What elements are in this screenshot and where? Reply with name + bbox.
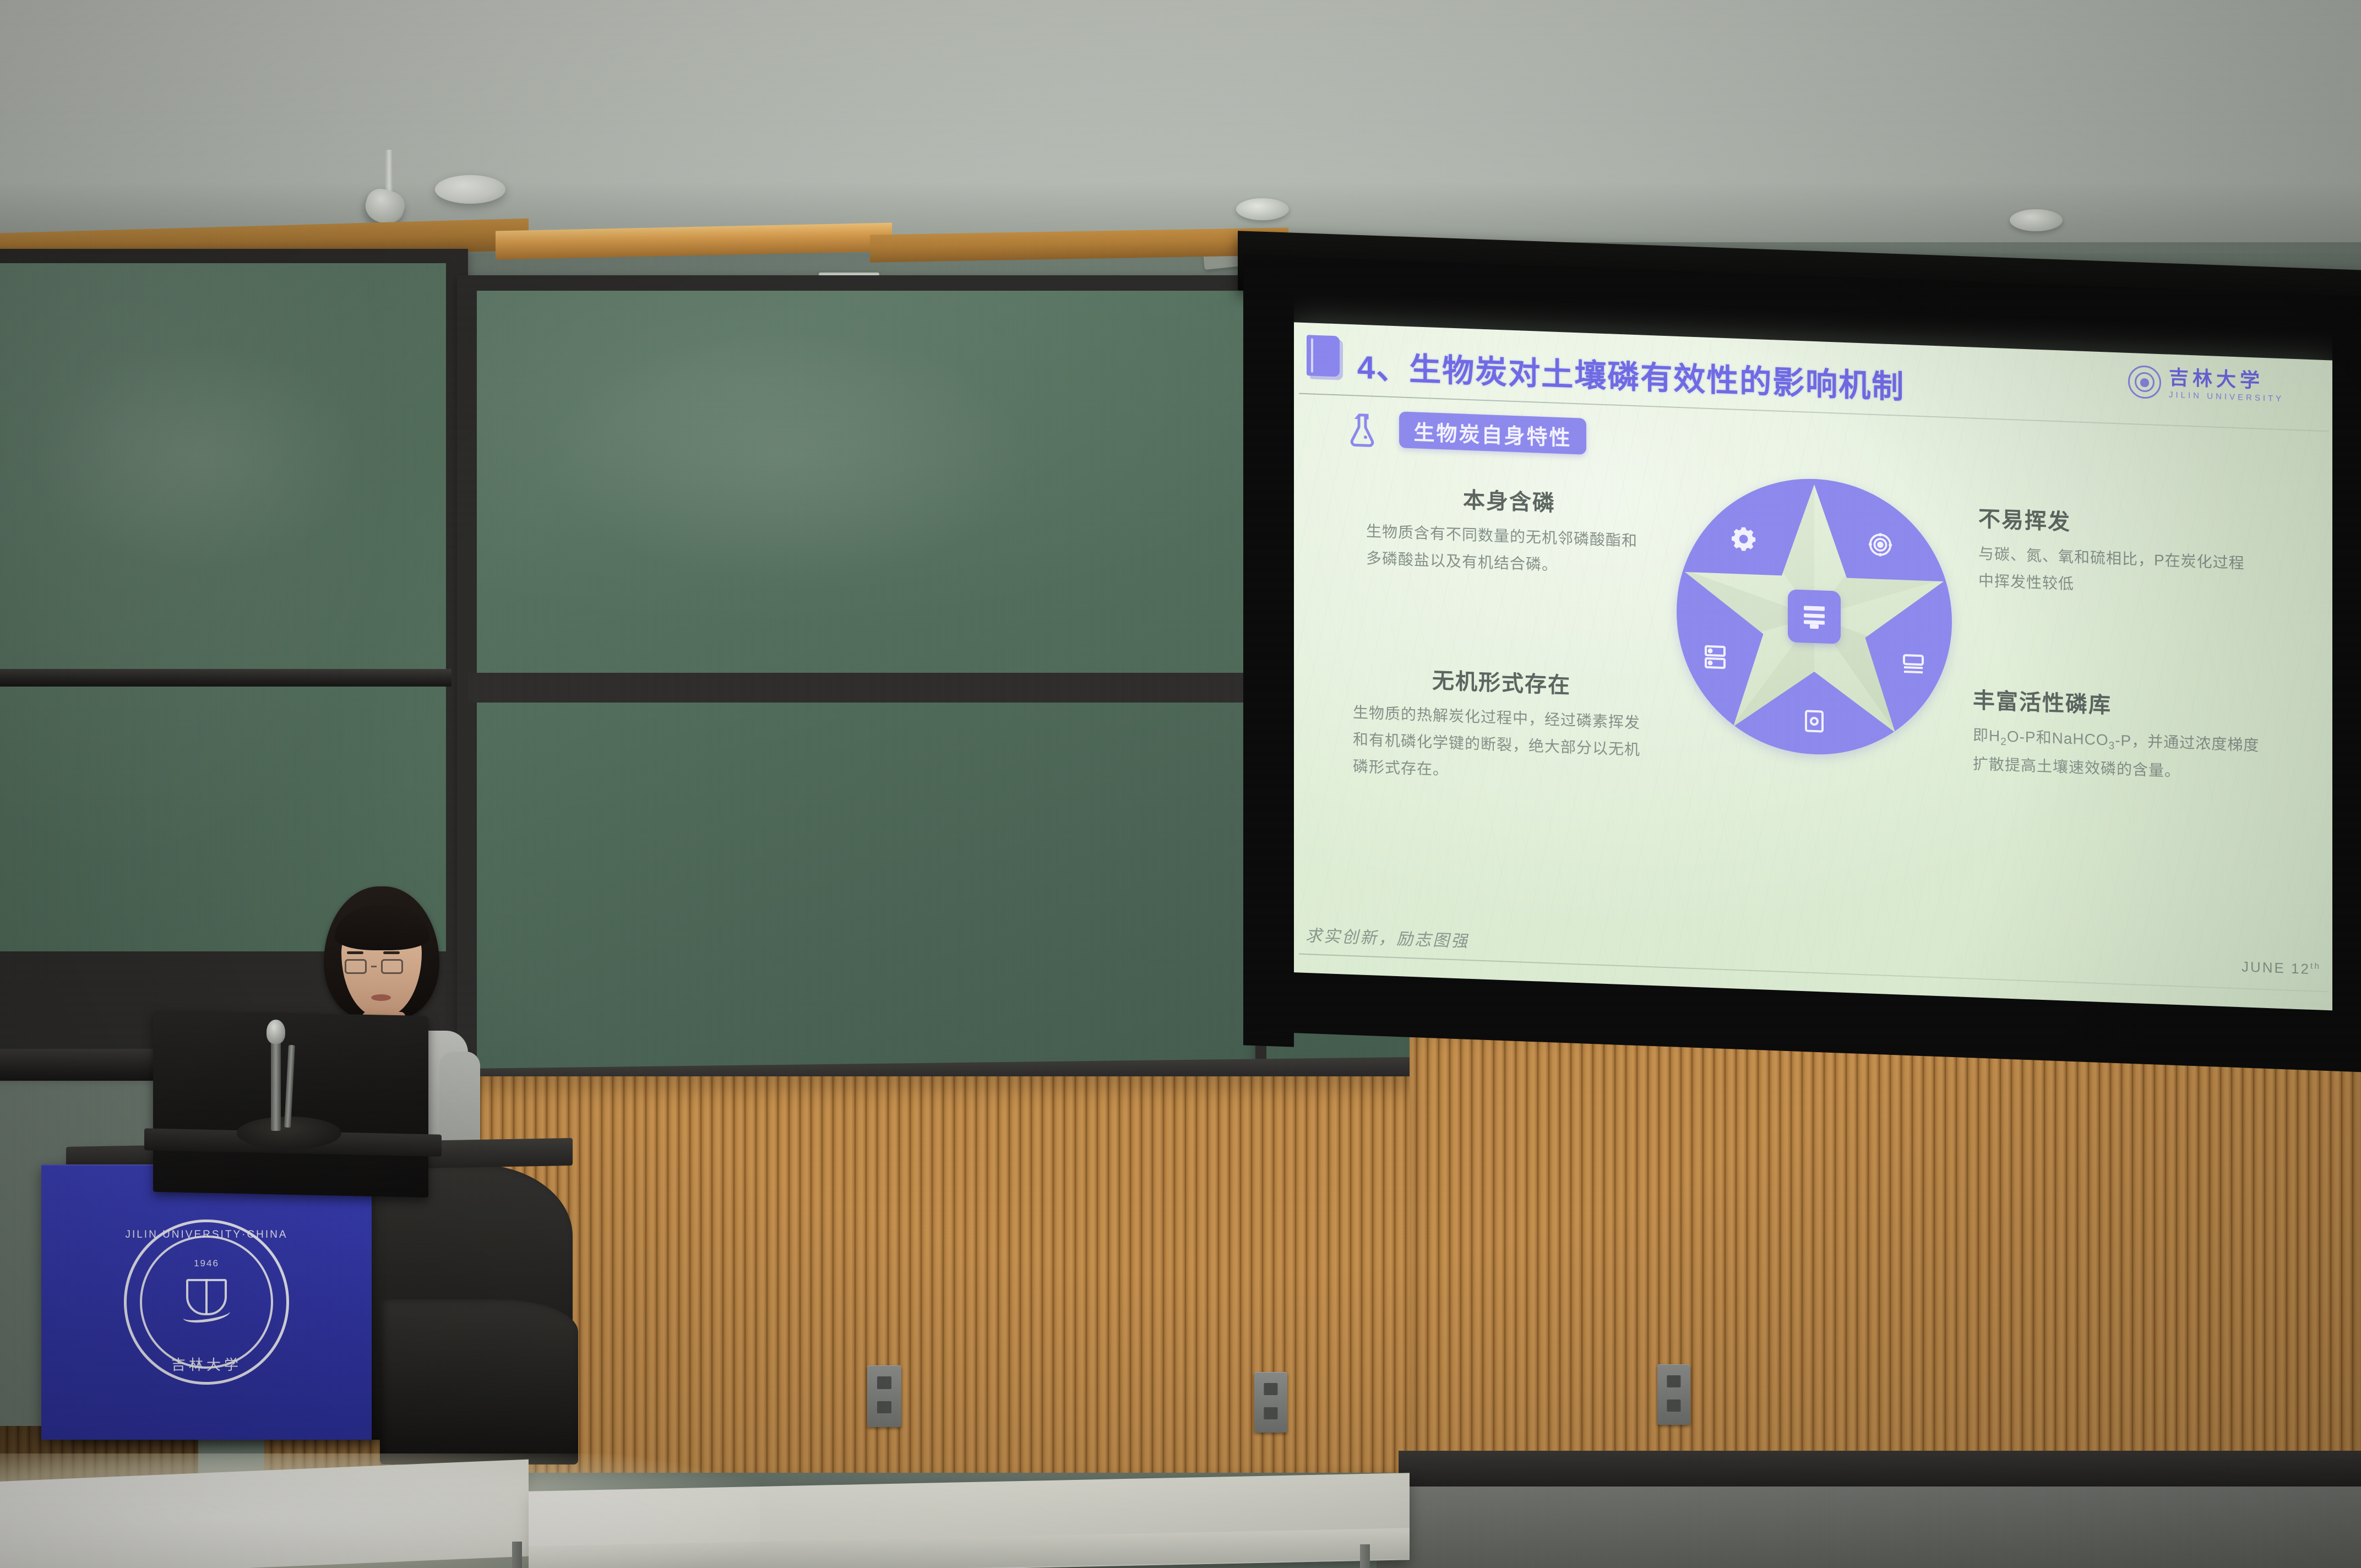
chalkboard-surface-left xyxy=(0,263,446,951)
power-outlet[interactable] xyxy=(1657,1364,1690,1425)
glasses-lens-left xyxy=(345,959,367,974)
seal-bird-icon xyxy=(182,1304,231,1325)
slide-footer-right: JUNE 12th xyxy=(2242,958,2321,978)
footer-date-sup: th xyxy=(2310,961,2321,971)
section-badge-label: 生物炭自身特性 xyxy=(1413,415,1571,451)
document-icon xyxy=(1803,709,1825,733)
target-icon xyxy=(1868,532,1893,558)
seal-shield-icon xyxy=(186,1279,227,1315)
smoke-detector-icon xyxy=(1236,198,1289,220)
glasses-icon xyxy=(345,959,403,974)
jilin-university-logo: 吉林大学 JILIN UNIVERSITY xyxy=(2128,365,2284,404)
university-seal-icon xyxy=(2128,365,2161,399)
database-icon xyxy=(1901,652,1925,677)
microphone-head-icon xyxy=(266,1020,285,1044)
slide-footer-left: 求实创新，励志图强 xyxy=(1305,922,1469,952)
microphone-stand xyxy=(271,1034,281,1131)
presenter-brow-left xyxy=(347,951,363,954)
text-block-top-left: 本身含磷 生物质含有不同数量的无机邻磷酸酯和多磷酸盐以及有机结合磷。 xyxy=(1366,484,1652,582)
document-stack-icon xyxy=(1788,589,1841,644)
presenter-mouth xyxy=(371,994,391,1001)
slide-title: 4、生物炭对土壤磷有效性的影响机制 xyxy=(1357,341,1905,407)
block-body: 与碳、氮、氧和硫相比，P在炭化过程中挥发性较低 xyxy=(1978,540,2259,605)
text-block-bottom-left: 无机形式存在 生物质的热解炭化过程中，经过磷素挥发和有机磷化学键的断裂，绝大部分… xyxy=(1353,666,1650,791)
university-seal: JILIN UNIVERSITY·CHINA 1946 吉林大学 xyxy=(124,1219,289,1385)
table-leg xyxy=(512,1542,522,1568)
block-heading: 无机形式存在 xyxy=(1353,666,1650,701)
block-heading: 丰富活性磷库 xyxy=(1973,689,2270,724)
seal-text-top: JILIN UNIVERSITY·CHINA xyxy=(125,1229,287,1241)
server-icon xyxy=(1704,644,1727,671)
block-heading: 不易挥发 xyxy=(1978,507,2259,542)
presenter-brow-right xyxy=(383,951,400,954)
wood-slat-wall-main xyxy=(451,1076,1470,1473)
gears-icon xyxy=(1731,524,1760,555)
block-heading: 本身含磷 xyxy=(1366,484,1652,519)
seal-text-bottom: 吉林大学 xyxy=(171,1354,242,1374)
flask-icon xyxy=(1348,412,1377,448)
projected-slide: 4、生物炭对土壤磷有效性的影响机制 吉林大学 JILIN UNIVERSITY … xyxy=(1291,322,2337,1016)
power-outlet[interactable] xyxy=(867,1365,901,1427)
text-block-bottom-right: 丰富活性磷库 即H2O-P和NaHCO3-P，并通过浓度梯度扩散提高土壤速效磷的… xyxy=(1973,689,2270,788)
floor-carpet xyxy=(1377,1487,2361,1568)
book-icon xyxy=(1307,335,1340,377)
slide-content: 4、生物炭对土壤磷有效性的影响机制 吉林大学 JILIN UNIVERSITY … xyxy=(1291,322,2337,1016)
screen-edge-left xyxy=(1243,274,1294,1047)
glasses-bridge xyxy=(371,966,377,967)
block-body: 即H2O-P和NaHCO3-P，并通过浓度梯度扩散提高土壤速效磷的含量。 xyxy=(1973,722,2270,788)
university-name-cn: 吉林大学 xyxy=(2169,367,2284,391)
star-diagram xyxy=(1677,474,1952,759)
chalk-rail-left xyxy=(0,669,451,687)
text-block-top-right: 不易挥发 与碳、氮、氧和硫相比，P在炭化过程中挥发性较低 xyxy=(1978,507,2259,605)
lecture-hall-scene: 4、生物炭对土壤磷有效性的影响机制 吉林大学 JILIN UNIVERSITY … xyxy=(0,0,2361,1568)
podium-shelf xyxy=(380,1299,578,1464)
power-outlet[interactable] xyxy=(1254,1372,1287,1433)
footer-date: JUNE 12 xyxy=(2242,958,2310,977)
smoke-detector-icon xyxy=(2010,209,2063,231)
table-leg xyxy=(1360,1544,1370,1568)
wood-slat-wall-right xyxy=(1410,1019,2361,1481)
university-name-en: JILIN UNIVERSITY xyxy=(2169,390,2284,403)
block-body: 生物质的热解炭化过程中，经过磷素挥发和有机磷化学键的断裂，绝大部分以无机磷形式存… xyxy=(1353,699,1650,791)
section-badge: 生物炭自身特性 xyxy=(1399,411,1586,454)
block-body: 生物质含有不同数量的无机邻磷酸酯和多磷酸盐以及有机结合磷。 xyxy=(1366,518,1652,582)
seal-year: 1946 xyxy=(194,1258,219,1269)
podium-front-panel: JILIN UNIVERSITY·CHINA 1946 吉林大学 xyxy=(41,1164,372,1440)
screen-edge-right xyxy=(2332,297,2361,1052)
glasses-lens-right xyxy=(381,959,403,974)
ceiling-downlight-icon xyxy=(435,175,505,204)
